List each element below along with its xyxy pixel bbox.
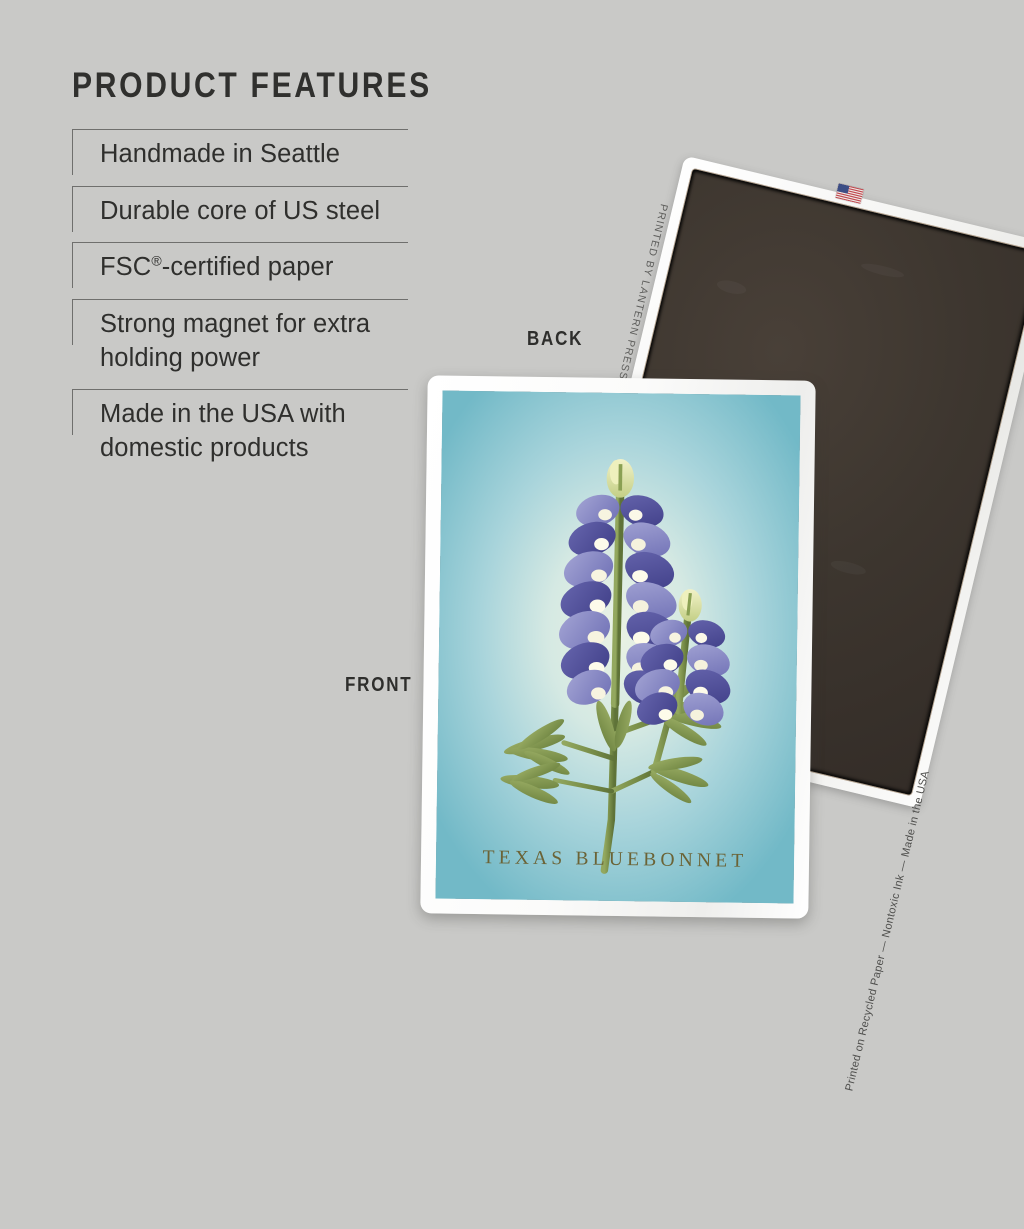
feature-rule (72, 186, 408, 187)
feature-label-tail: -certified paper (162, 253, 334, 281)
page-title: PRODUCT FEATURES (72, 68, 382, 103)
feature-label: Handmade in Seattle (100, 138, 432, 172)
feature-item-2: Durable core of US steel (72, 186, 432, 243)
registered-mark-icon: ® (151, 253, 161, 269)
callout-label-front: FRONT (345, 674, 412, 697)
feature-label: Made in the USA with domestic products (100, 398, 432, 465)
feature-item-3: FSC®-certified paper (72, 242, 432, 299)
magnet-edge-text-right: Printed on Recycled Paper — Nontoxic Ink… (810, 770, 931, 1229)
feature-rule (72, 299, 408, 300)
us-flag-sticker-icon (835, 183, 864, 204)
feature-label: FSC®-certified paper (100, 251, 432, 285)
feature-item-4: Strong magnet for extra holding power (72, 299, 432, 389)
feature-tick (72, 186, 73, 232)
magnet-front-view: TEXAS BLUEBONNET (420, 375, 815, 918)
feature-label-base: FSC (100, 253, 151, 281)
feature-tick (72, 299, 73, 345)
feature-item-1: Handmade in Seattle (72, 129, 432, 186)
bluebonnet-artwork: TEXAS BLUEBONNET (435, 391, 800, 904)
callout-label-back: BACK (527, 328, 583, 351)
feature-item-5: Made in the USA with domestic products (72, 389, 432, 479)
product-feature-layout: PRODUCT FEATURES Handmade in Seattle Dur… (0, 0, 1024, 1024)
product-features-panel: PRODUCT FEATURES Handmade in Seattle Dur… (72, 68, 432, 480)
feature-label: Durable core of US steel (100, 195, 432, 229)
feature-label: Strong magnet for extra holding power (100, 308, 432, 375)
feature-tick (72, 389, 73, 435)
feature-tick (72, 242, 73, 288)
feature-rule (72, 389, 408, 390)
feature-rule (72, 129, 408, 130)
feature-rule (72, 242, 408, 243)
feature-tick (72, 129, 73, 175)
